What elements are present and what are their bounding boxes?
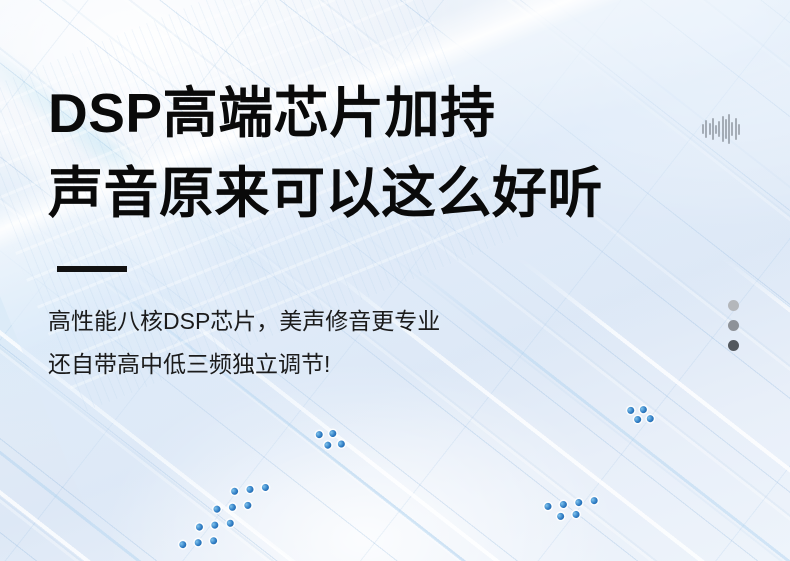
- status-dot-stack: [728, 300, 740, 360]
- subheadline-line-2: 还自带高中低三频独立调节!: [48, 353, 330, 376]
- subheadline-line-1: 高性能八核DSP芯片，美声修音更专业: [48, 310, 440, 333]
- section-divider-bar: [57, 266, 127, 272]
- headline-line-1: DSP高端芯片加持: [48, 86, 496, 141]
- status-dot-light: [728, 300, 739, 311]
- headline-line-2: 声音原来可以这么好听: [48, 166, 603, 221]
- audio-waveform-icon: [702, 112, 740, 146]
- status-dot-dark: [728, 340, 739, 351]
- dsp-chip-promo-banner: DSP高端芯片加持 声音原来可以这么好听 高性能八核DSP芯片，美声修音更专业 …: [0, 0, 790, 561]
- status-dot-medium: [728, 320, 739, 331]
- banner-content: DSP高端芯片加持 声音原来可以这么好听 高性能八核DSP芯片，美声修音更专业 …: [0, 0, 790, 561]
